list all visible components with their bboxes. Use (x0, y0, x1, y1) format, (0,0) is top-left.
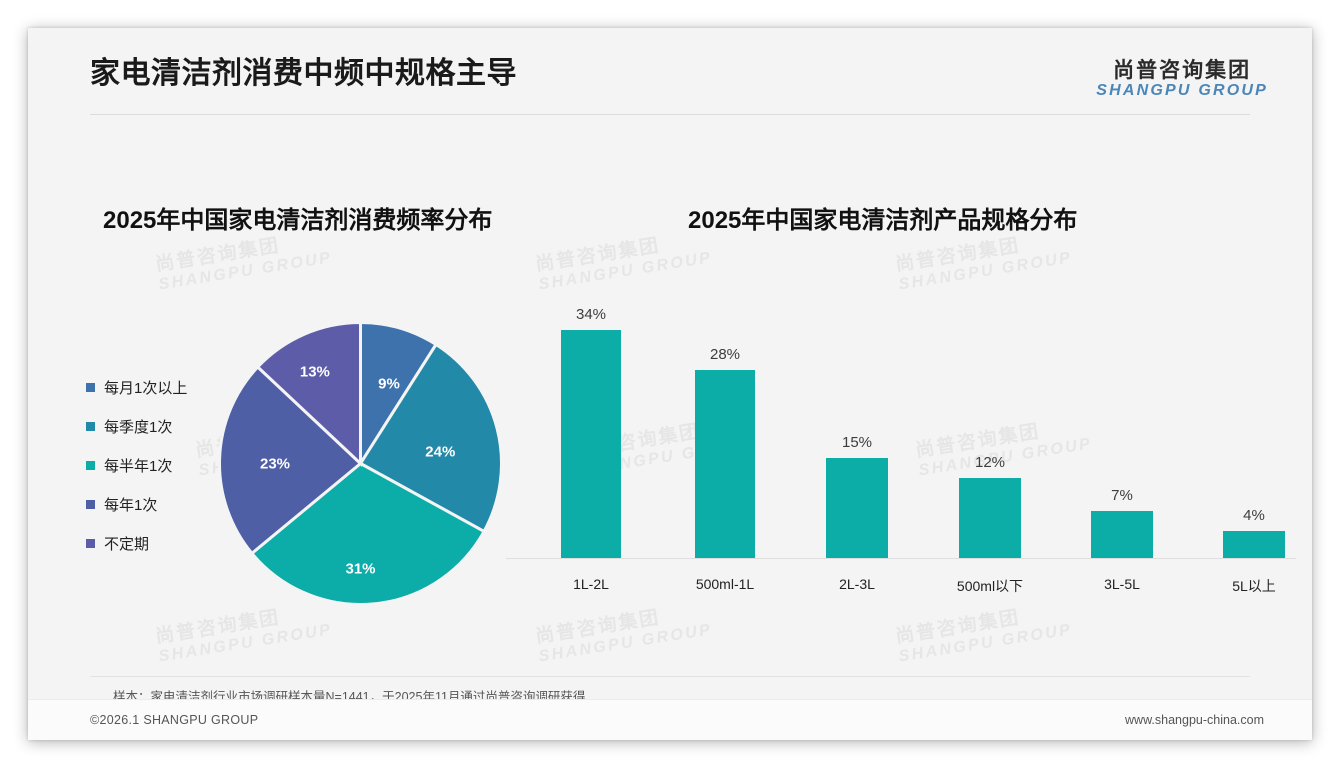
bar-column[interactable]: 34% (561, 290, 621, 558)
bar-category-label: 3L-5L (1104, 576, 1140, 592)
watermark-2: 尚普咨询集团SHANGPU GROUP (894, 228, 1073, 293)
bar-column[interactable]: 12% (959, 290, 1021, 558)
watermark-0: 尚普咨询集团SHANGPU GROUP (154, 228, 333, 293)
bar-value-label: 15% (826, 434, 888, 451)
bar-rect[interactable] (826, 458, 888, 559)
bar-category-label: 5L以上 (1232, 576, 1276, 596)
pie-slice-value-label: 23% (260, 455, 290, 472)
watermark-text-cn: 尚普咨询集团 (534, 600, 711, 648)
bar-column[interactable]: 7% (1091, 290, 1153, 558)
brand-name-en: SHANGPU GROUP (1096, 83, 1268, 100)
website-link[interactable]: www.shangpu-china.com (1125, 713, 1264, 727)
legend-color-swatch (86, 539, 95, 548)
bar-category-label: 500ml以下 (957, 576, 1023, 596)
legend-item[interactable]: 每年1次 (86, 485, 187, 524)
watermark-3: 尚普咨询集团SHANGPU GROUP (154, 600, 333, 665)
slide-header: 家电清洁剂消费中频中规格主导 尚普咨询集团 SHANGPU GROUP (28, 28, 1312, 114)
bar-value-label: 34% (561, 306, 621, 323)
watermark-text-en: SHANGPU GROUP (897, 621, 1073, 666)
watermark-1: 尚普咨询集团SHANGPU GROUP (534, 228, 713, 293)
legend-color-swatch (86, 461, 95, 470)
page-title: 家电清洁剂消费中频中规格主导 (90, 48, 517, 92)
watermark-text-en: SHANGPU GROUP (537, 249, 713, 294)
watermark-4: 尚普咨询集团SHANGPU GROUP (534, 600, 713, 665)
legend-item[interactable]: 每半年1次 (86, 446, 187, 485)
legend-color-swatch (86, 422, 95, 431)
watermark-text-en: SHANGPU GROUP (157, 621, 333, 666)
legend-item-label: 每季度1次 (104, 416, 172, 437)
bar-category-label: 1L-2L (573, 576, 609, 592)
watermark-text-en: SHANGPU GROUP (157, 249, 333, 294)
bar-chart-axis-line (506, 558, 1296, 559)
footnote-divider (90, 676, 1250, 677)
brand-name-cn: 尚普咨询集团 (1096, 60, 1268, 82)
bar-rect[interactable] (561, 330, 621, 558)
copyright-text: ©2026.1 SHANGPU GROUP (90, 713, 258, 727)
bar-chart-title: 2025年中国家电清洁剂产品规格分布 (688, 200, 1077, 235)
bar-column[interactable]: 15% (826, 290, 888, 558)
watermark-text-cn: 尚普咨询集团 (894, 600, 1071, 648)
bar-rect[interactable] (1091, 511, 1153, 558)
legend-item-label: 每年1次 (104, 494, 157, 515)
watermark-text-en: SHANGPU GROUP (897, 249, 1073, 294)
legend-item-label: 不定期 (104, 533, 149, 554)
watermark-text-cn: 尚普咨询集团 (894, 228, 1071, 276)
bar-value-label: 12% (959, 454, 1021, 471)
slide-canvas: 尚普咨询集团SHANGPU GROUP尚普咨询集团SHANGPU GROUP尚普… (28, 28, 1312, 740)
bar-value-label: 4% (1223, 507, 1285, 524)
pie-slice-value-label: 24% (425, 444, 455, 461)
watermark-5: 尚普咨询集团SHANGPU GROUP (894, 600, 1073, 665)
bar-category-label: 2L-3L (839, 576, 875, 592)
bar-rect[interactable] (695, 370, 755, 558)
pie-slice-value-label: 31% (345, 560, 375, 577)
pie-slice-value-label: 9% (378, 375, 400, 392)
legend-item[interactable]: 每季度1次 (86, 407, 187, 446)
pie-chart-legend: 每月1次以上每季度1次每半年1次每年1次不定期 (86, 368, 187, 563)
header-divider (90, 114, 1250, 115)
bar-value-label: 28% (695, 346, 755, 363)
watermark-text-cn: 尚普咨询集团 (154, 228, 331, 276)
pie-chart-title: 2025年中国家电清洁剂消费频率分布 (103, 200, 492, 235)
bar-rect[interactable] (959, 478, 1021, 558)
legend-item[interactable]: 每月1次以上 (86, 368, 187, 407)
pie-chart: 9%24%31%23%13% (218, 321, 503, 606)
pie-slice-value-label: 13% (300, 364, 330, 381)
slide-footer: ©2026.1 SHANGPU GROUP www.shangpu-china.… (28, 699, 1312, 740)
legend-color-swatch (86, 383, 95, 392)
legend-item-label: 每月1次以上 (104, 377, 187, 398)
bar-value-label: 7% (1091, 487, 1153, 504)
legend-item-label: 每半年1次 (104, 455, 172, 476)
bar-category-label: 500ml-1L (696, 576, 754, 592)
legend-color-swatch (86, 500, 95, 509)
bar-rect[interactable] (1223, 531, 1285, 558)
watermark-text-en: SHANGPU GROUP (537, 621, 713, 666)
brand-logo: 尚普咨询集团 SHANGPU GROUP (1096, 60, 1268, 100)
bar-chart-plot-area: 34%28%15%12%7%4% (506, 290, 1296, 558)
watermark-text-cn: 尚普咨询集团 (534, 228, 711, 276)
bar-column[interactable]: 28% (695, 290, 755, 558)
bar-column[interactable]: 4% (1223, 290, 1285, 558)
legend-item[interactable]: 不定期 (86, 524, 187, 563)
watermark-text-cn: 尚普咨询集团 (154, 600, 331, 648)
